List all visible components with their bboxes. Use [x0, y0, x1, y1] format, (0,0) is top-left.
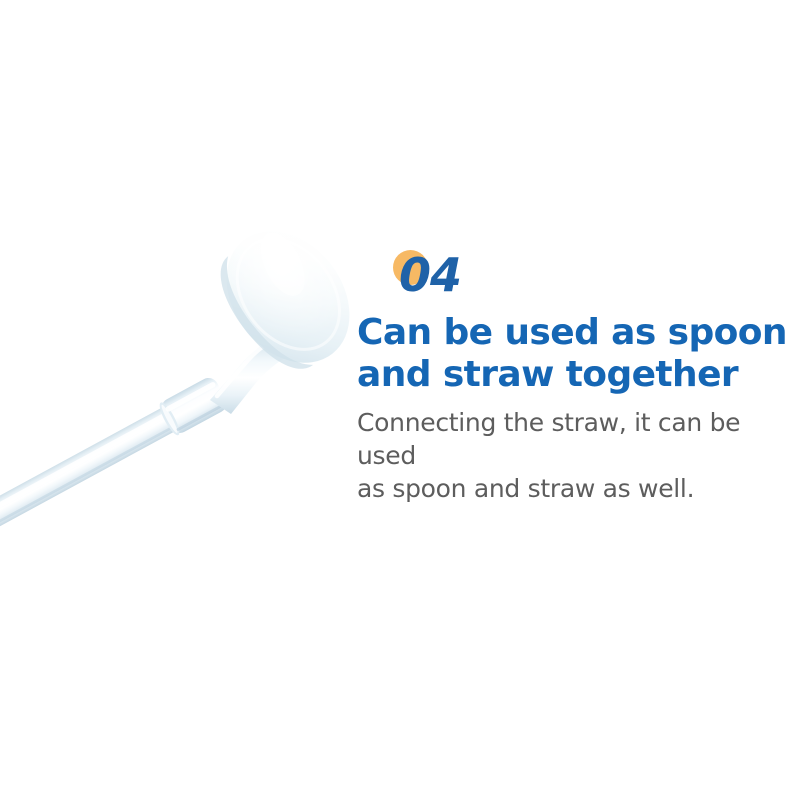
spoon-bowl — [201, 207, 375, 387]
step-number: 04 — [399, 252, 461, 298]
product-image — [0, 0, 400, 800]
feature-description: Connecting the straw, it can be used as … — [357, 406, 787, 505]
step-badge: 04 — [357, 240, 787, 312]
product-feature-slide: 04 Can be used as spoon and straw togeth… — [0, 0, 800, 800]
feature-text-column: 04 Can be used as spoon and straw togeth… — [357, 240, 787, 505]
feature-headline: Can be used as spoon and straw together — [357, 312, 787, 396]
